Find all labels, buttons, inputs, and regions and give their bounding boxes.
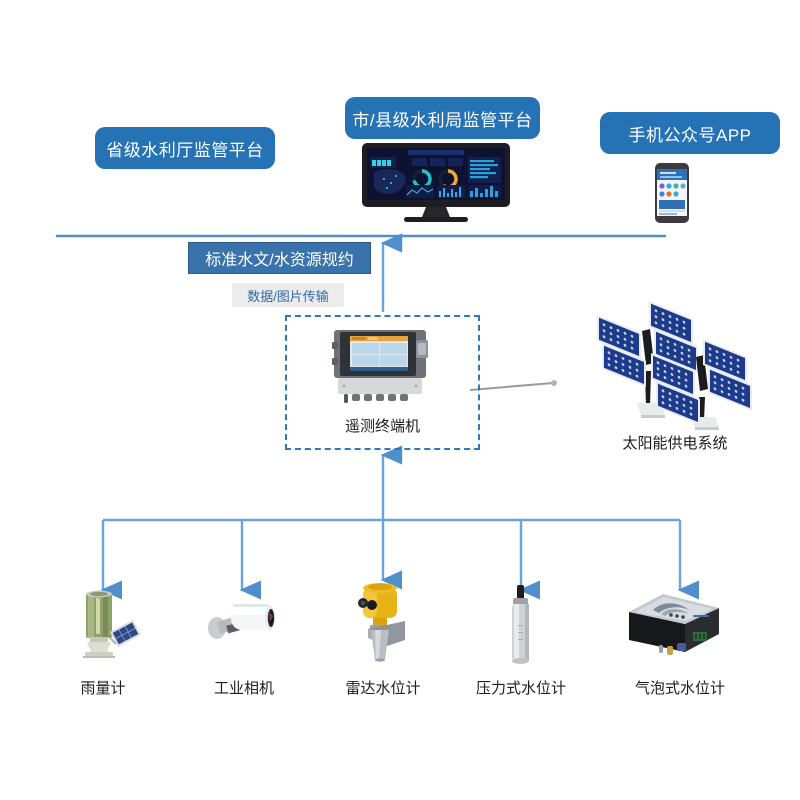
bubbler-level-unit-icon	[623, 588, 725, 660]
data-transfer-label-box: 数据/图片传输	[232, 283, 344, 307]
platform-pill-province[interactable]: 省级水利厅监管平台	[95, 127, 275, 169]
platform-label: 市/县级水利局监管平台	[352, 106, 532, 131]
protocol-label-box: 标准水文/水资源规约	[188, 242, 371, 274]
solar-power-label-text: 太阳能供电系统	[622, 435, 727, 452]
sensor-label-text: 压力式水位计	[476, 680, 566, 697]
sensor-label-rain-gauge: 雨量计	[43, 677, 163, 698]
rtu-label: 遥测终端机	[285, 415, 480, 436]
platform-pill-city[interactable]: 市/县级水利局监管平台	[345, 97, 540, 139]
solar-panel-array-icon	[585, 295, 765, 430]
sensor-label-text: 雷达水位计	[345, 680, 420, 697]
rain-gauge-icon	[72, 588, 142, 660]
pressure-level-probe-icon	[496, 585, 546, 665]
diagram-canvas: 省级水利厅监管平台 市/县级水利局监管平台 手机公众号APP	[0, 0, 800, 800]
smartphone-app-icon	[655, 163, 689, 223]
sensor-label-pressure-level: 压力式水位计	[461, 677, 581, 698]
protocol-label: 标准水文/水资源规约	[205, 246, 353, 270]
sensor-label-text: 工业相机	[214, 680, 274, 697]
platform-pill-app[interactable]: 手机公众号APP	[600, 112, 780, 154]
sensor-label-text: 雨量计	[80, 680, 125, 697]
sensor-label-bubbler-level: 气泡式水位计	[620, 677, 740, 698]
data-transfer-label: 数据/图片传输	[247, 286, 329, 305]
rtu-terminal-device-icon	[330, 328, 435, 406]
industrial-camera-icon	[203, 598, 285, 656]
rtu-label-text: 遥测终端机	[345, 418, 420, 435]
sensor-label-radar-level: 雷达水位计	[323, 677, 443, 698]
radar-level-gauge-icon	[343, 578, 423, 662]
solar-power-label: 太阳能供电系统	[575, 432, 775, 453]
sensor-label-industrial-camera: 工业相机	[184, 677, 304, 698]
sensor-label-text: 气泡式水位计	[635, 680, 725, 697]
desktop-monitor-dashboard-icon	[360, 143, 512, 223]
platform-label: 省级水利厅监管平台	[106, 136, 264, 161]
platform-label: 手机公众号APP	[628, 121, 751, 146]
